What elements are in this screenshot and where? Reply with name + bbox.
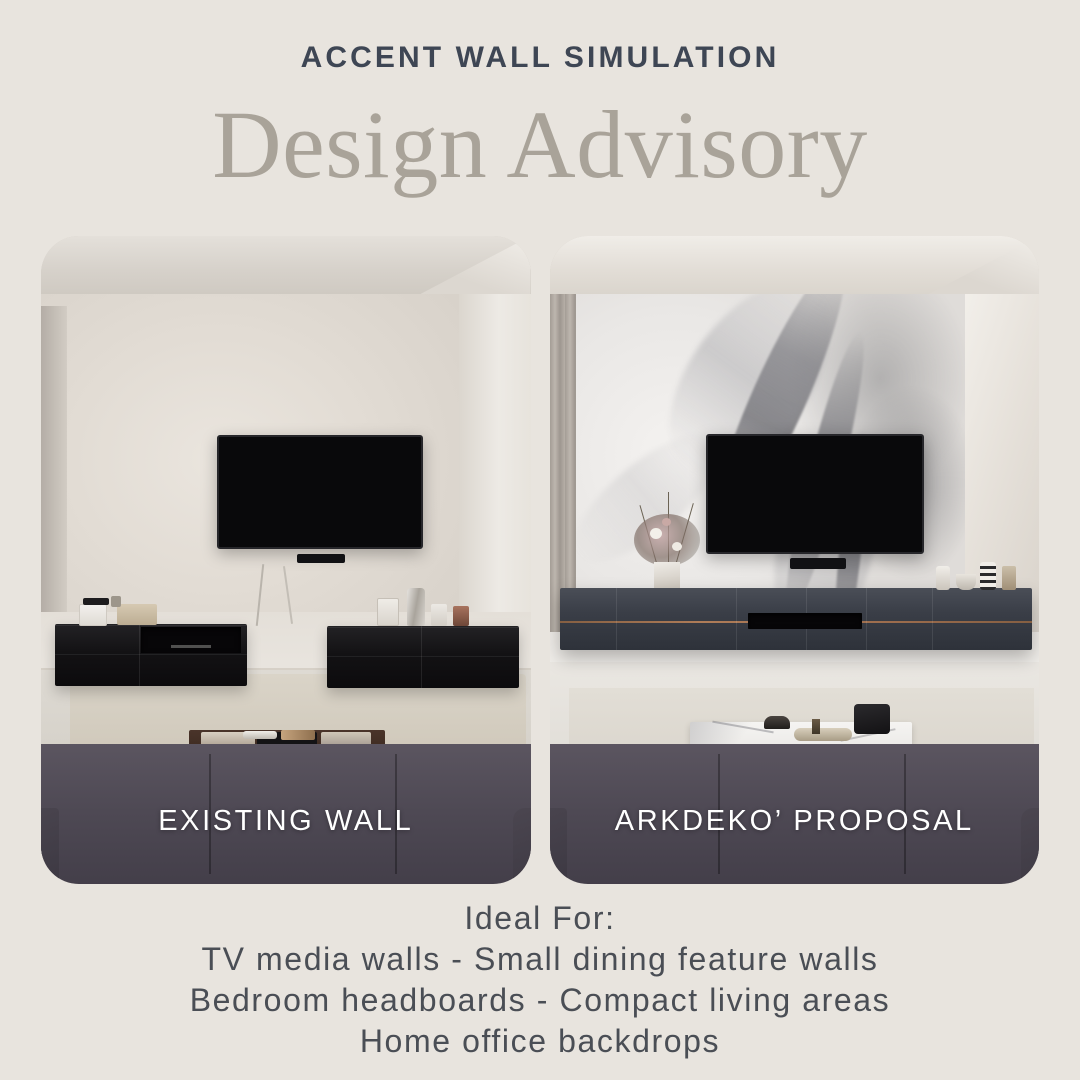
after-caption: ARKDEKO’ PROPOSAL — [550, 805, 1040, 838]
page-eyebrow: ACCENT WALL SIMULATION — [0, 41, 1080, 75]
table-decor-sculpture — [764, 716, 790, 729]
decor-branch — [1002, 566, 1016, 590]
ideal-for-block: Ideal For: TV media walls - Small dining… — [0, 898, 1080, 1062]
wall-mounted-tv — [217, 435, 423, 549]
ceiling — [41, 236, 531, 294]
decor-black-tray — [83, 598, 109, 605]
ceiling-bevel — [929, 236, 1039, 294]
flower-white-bloom — [672, 542, 682, 551]
soundbar — [790, 558, 846, 569]
side-wall — [459, 288, 531, 618]
flower-white-bloom — [650, 528, 662, 539]
poster-canvas: ACCENT WALL SIMULATION Design Advisory — [0, 0, 1080, 1080]
wall-mounted-tv — [706, 434, 924, 554]
before-caption: EXISTING WALL — [41, 805, 531, 838]
decor-pen-cup — [111, 596, 121, 607]
console-device — [171, 645, 211, 648]
after-panel[interactable]: ARKDEKO’ PROPOSAL — [550, 236, 1040, 884]
soundbar — [297, 554, 345, 563]
decor-vase-tall — [936, 566, 950, 590]
decor-box-white — [79, 604, 107, 626]
media-console-right — [327, 626, 519, 688]
decor-small-frame — [431, 604, 447, 626]
flower-pink-bloom — [662, 518, 671, 526]
console-open-niche — [748, 613, 862, 629]
left-curtain — [41, 306, 67, 636]
media-console-left — [55, 624, 247, 686]
ideal-for-item: TV media walls - Small dining feature wa… — [0, 939, 1080, 980]
table-decor-tray — [794, 728, 852, 741]
ideal-for-label: Ideal For: — [0, 898, 1080, 939]
page-title: Design Advisory — [0, 97, 1080, 193]
table-remote — [243, 731, 277, 739]
before-panel[interactable]: EXISTING WALL — [41, 236, 531, 884]
ceiling — [550, 236, 1040, 294]
ceiling-bevel — [421, 236, 531, 294]
ideal-for-item: Home office backdrops — [0, 1021, 1080, 1062]
decor-woven-basket — [117, 604, 157, 625]
before-after-comparison: EXISTING WALL — [41, 236, 1039, 884]
decor-picture-frame — [377, 598, 399, 626]
floating-media-console — [560, 588, 1032, 650]
table-decor-bag — [854, 704, 890, 734]
console-open-niche — [141, 627, 241, 653]
decor-striped-vessel — [980, 562, 996, 590]
after-room-photo — [550, 236, 1040, 884]
before-room-photo — [41, 236, 531, 884]
table-books — [281, 730, 315, 740]
decor-silver-vase — [407, 588, 425, 626]
table-decor-candle — [812, 719, 820, 734]
decor-candle — [453, 606, 469, 626]
ideal-for-item: Bedroom headboards - Compact living area… — [0, 980, 1080, 1021]
decor-bowl — [956, 574, 976, 590]
